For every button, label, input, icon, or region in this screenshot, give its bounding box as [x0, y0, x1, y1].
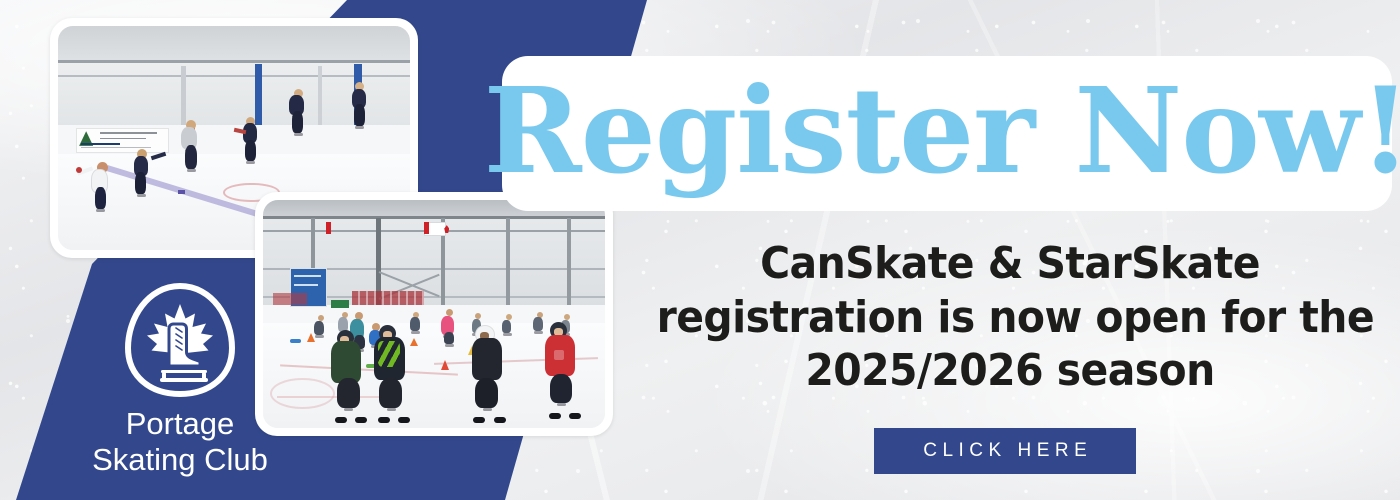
headline-register-now: Register Now! — [484, 72, 1400, 190]
club-name-line-2: Skating Club — [92, 442, 268, 477]
club-name-line-1: Portage — [126, 406, 235, 441]
headline-panel: Register Now! — [502, 56, 1392, 211]
photo-canskate-kids — [255, 192, 613, 436]
photo-canskate-kids-image — [263, 200, 605, 428]
rink-scene-2 — [263, 200, 605, 428]
club-name: Portage Skating Club — [75, 406, 285, 478]
click-here-button[interactable]: CLICK HERE — [874, 428, 1136, 474]
body-copy-line-3: 2025/2026 season — [657, 344, 1364, 398]
club-logo: Portage Skating Club — [75, 280, 285, 478]
registration-banner: Portage Skating Club Register Now! CanSk… — [0, 0, 1400, 500]
maple-leaf-skate-icon — [120, 280, 240, 400]
body-copy-line-2: registration is now open for the — [657, 291, 1364, 345]
body-copy: CanSkate & StarSkate registration is now… — [657, 237, 1364, 398]
body-copy-line-1: CanSkate & StarSkate — [657, 237, 1364, 291]
